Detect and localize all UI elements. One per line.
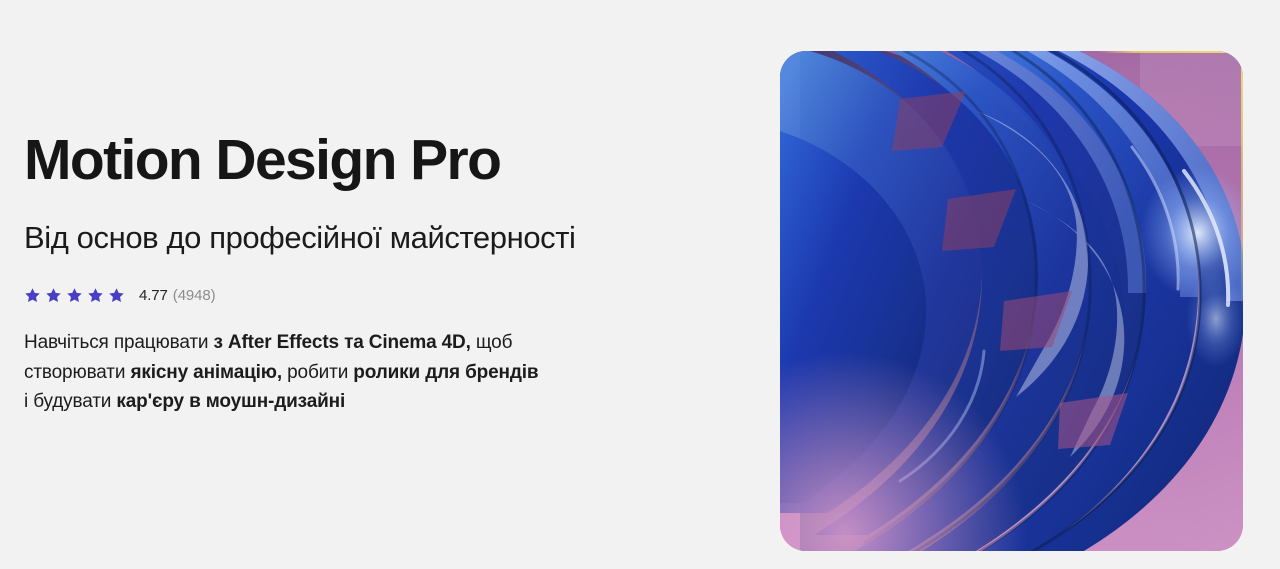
rating-row: 4.77 (4948) [24,283,216,307]
star-icon [24,287,41,304]
description-emphasis: кар'єру в моушн-дизайні [116,391,345,412]
abstract-blue-spiral-artwork [780,51,1243,551]
star-icon [87,287,104,304]
artwork-rim-highlight-top [1098,51,1243,53]
star-icon [45,287,62,304]
hero-section: Motion Design Pro Від основ до професійн… [0,0,1280,569]
hero-artwork-card [780,51,1243,551]
page-title: Motion Design Pro [24,128,500,192]
hero-description-line: і будувати кар'єру в моушн-дизайні [24,387,664,417]
hero-copy-column: Motion Design Pro Від основ до професійн… [24,0,744,569]
description-emphasis: якісну анімацію, [130,362,282,383]
description-text: Навчіться працювати [24,332,214,353]
description-text: і будувати [24,391,116,412]
description-text: створювати [24,362,130,383]
hero-description-line: створювати якісну анімацію, робити ролик… [24,358,664,388]
star-rating [24,287,125,304]
rating-score: 4.77 [139,287,168,304]
hero-description-line: Навчіться працювати з After Effects та C… [24,328,664,358]
page-subtitle: Від основ до професійної майстерності [24,218,576,258]
description-text: робити [282,362,353,383]
hero-description: Навчіться працювати з After Effects та C… [24,328,664,417]
rating-count: (4948) [173,287,216,304]
description-emphasis: ролики для брендів [353,362,538,383]
description-emphasis: з After Effects та Cinema 4D, [214,332,471,353]
star-icon [66,287,83,304]
artwork-rim-highlight-right [1241,51,1243,313]
star-icon [108,287,125,304]
description-text: щоб [471,332,513,353]
